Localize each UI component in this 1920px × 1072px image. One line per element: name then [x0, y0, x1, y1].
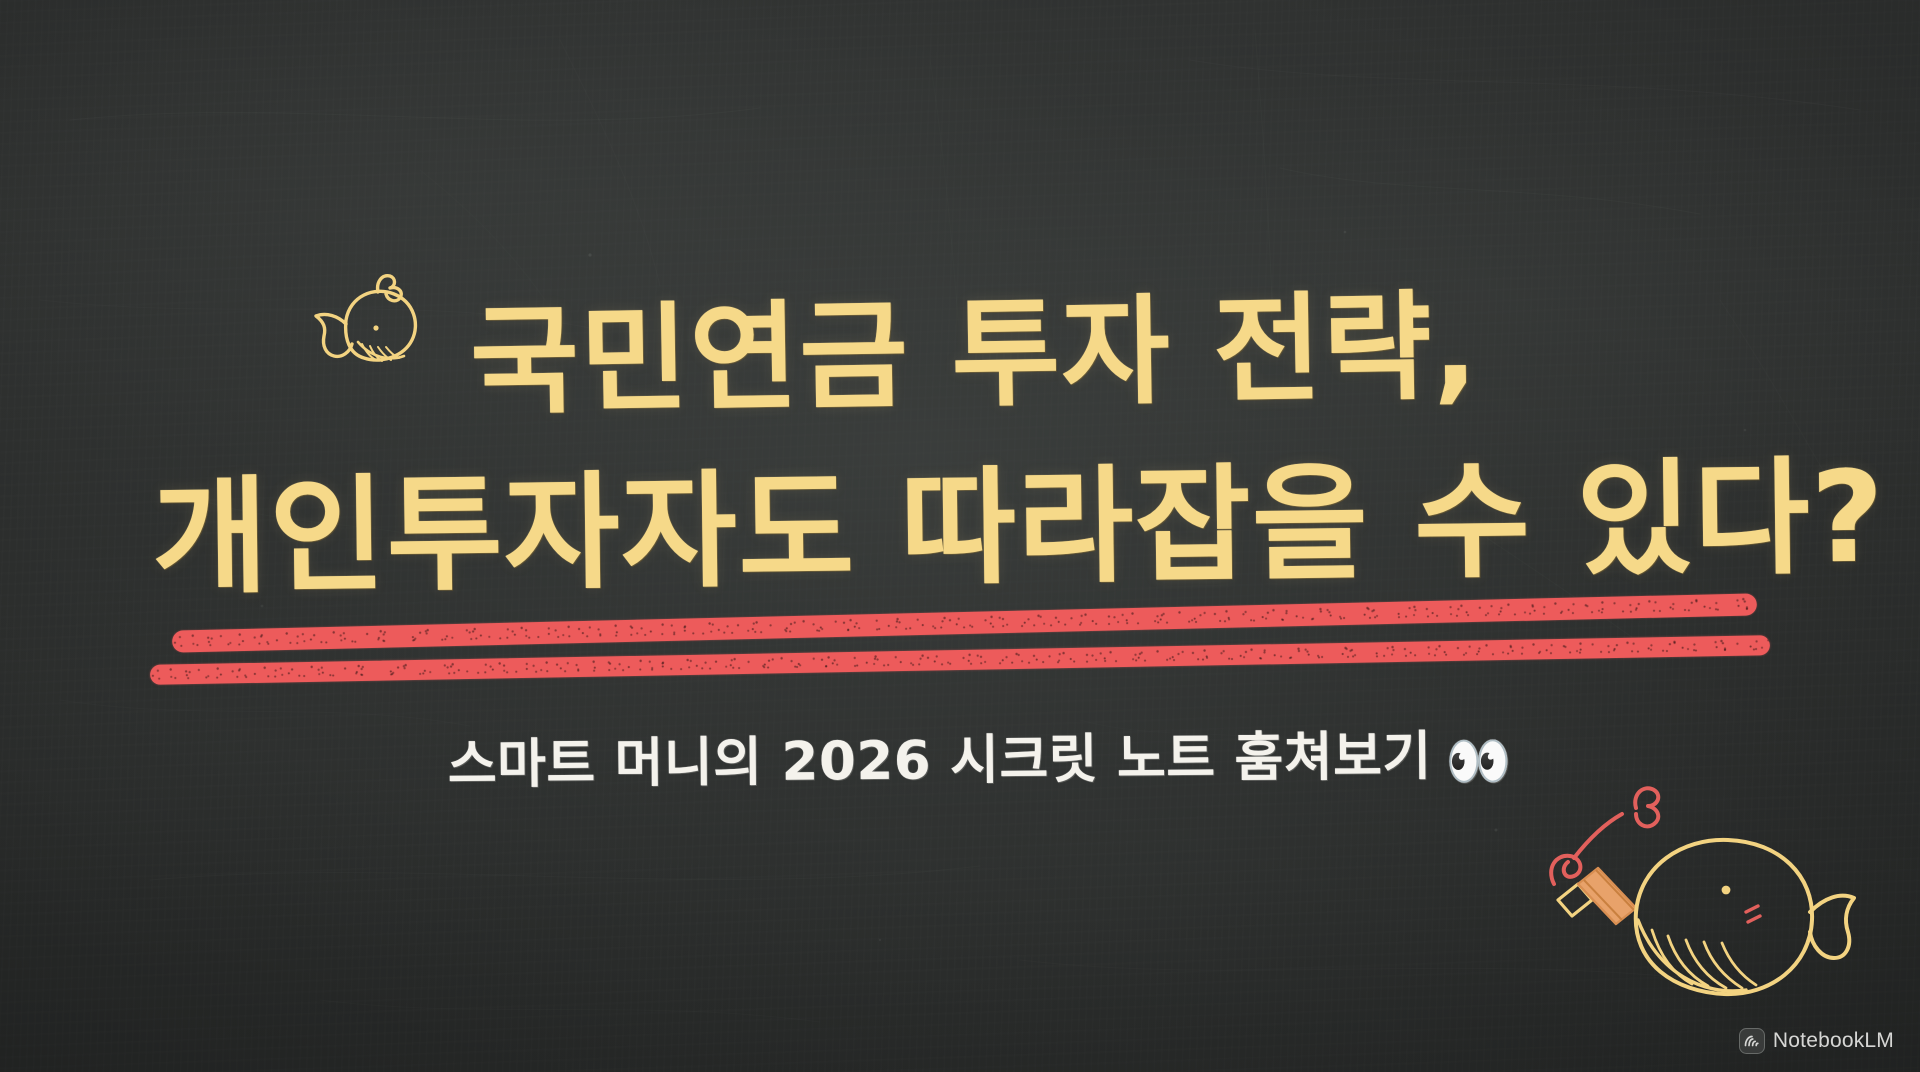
watermark-label: NotebookLM — [1773, 1029, 1894, 1053]
title-line-2: 개인투자자도 따라잡을 수 있다? — [151, 415, 1886, 618]
title-line-1: 국민연금 투자 전략, — [469, 250, 1480, 437]
subtitle: 스마트 머니의 2026 시크릿 노트 훔쳐보기👀 — [360, 713, 1601, 803]
eyes-emoji-icon: 👀 — [1445, 730, 1512, 793]
notebooklm-logo-icon — [1739, 1028, 1765, 1054]
subtitle-text: 스마트 머니의 2026 시크릿 노트 훔쳐보기 — [448, 726, 1432, 796]
chalkboard-canvas: 국민연금 투자 전략, 개인투자자도 따라잡을 수 있다? 스마트 머니의 20… — [0, 0, 1920, 1072]
watermark: NotebookLM — [1739, 1028, 1894, 1054]
whale-with-pencil-doodle-icon — [1540, 780, 1860, 1020]
